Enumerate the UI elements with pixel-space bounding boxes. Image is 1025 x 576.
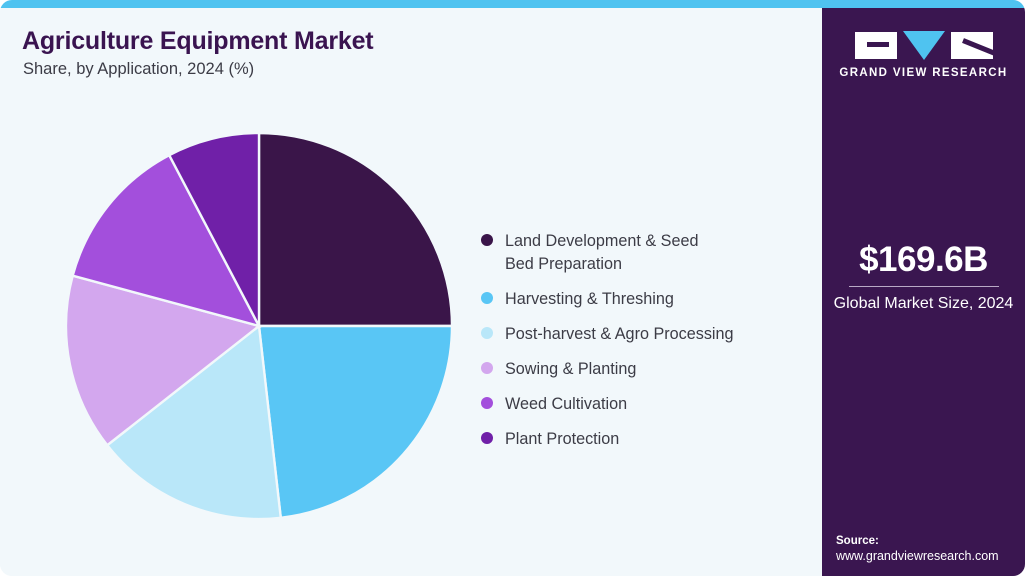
market-size-stat: $169.6B Global Market Size, 2024 — [822, 242, 1025, 315]
pie-chart — [64, 131, 454, 521]
infographic-card: Agriculture Equipment Market Share, by A… — [0, 0, 1025, 576]
market-size-value: $169.6B — [822, 242, 1025, 279]
logo-wordmark: GRAND VIEW RESEARCH — [822, 67, 1025, 79]
legend-item-label: Post-harvest & Agro Processing — [505, 323, 734, 346]
chart-legend: Land Development & SeedBed PreparationHa… — [481, 230, 811, 451]
legend-item[interactable]: Post-harvest & Agro Processing — [481, 323, 811, 346]
legend-color-swatch — [481, 432, 493, 444]
top-accent-bar — [0, 0, 1025, 8]
logo-v-triangle-icon — [903, 31, 945, 60]
source-block: Source: www.grandviewresearch.com — [836, 535, 1021, 563]
source-label: Source: — [836, 535, 1021, 547]
logo-g-icon — [855, 32, 897, 59]
legend-color-swatch — [481, 362, 493, 374]
legend-item[interactable]: Land Development & SeedBed Preparation — [481, 230, 811, 276]
legend-color-swatch — [481, 397, 493, 409]
legend-item[interactable]: Harvesting & Threshing — [481, 288, 811, 311]
legend-item[interactable]: Plant Protection — [481, 428, 811, 451]
pie-slice[interactable] — [259, 133, 452, 326]
legend-item-label: Weed Cultivation — [505, 393, 627, 416]
legend-item-label: Harvesting & Threshing — [505, 288, 674, 311]
legend-item-label: Sowing & Planting — [505, 358, 636, 381]
source-url[interactable]: www.grandviewresearch.com — [836, 549, 1021, 563]
brand-side-panel: GRAND VIEW RESEARCH $169.6B Global Marke… — [822, 8, 1025, 576]
legend-color-swatch — [481, 327, 493, 339]
logo-r-icon — [951, 32, 993, 59]
pie-slice[interactable] — [259, 326, 452, 518]
stat-divider — [849, 286, 999, 288]
logo-marks — [822, 32, 1025, 59]
legend-item[interactable]: Sowing & Planting — [481, 358, 811, 381]
legend-item-label: Plant Protection — [505, 428, 619, 451]
legend-color-swatch — [481, 292, 493, 304]
legend-item[interactable]: Weed Cultivation — [481, 393, 811, 416]
grand-view-research-logo: GRAND VIEW RESEARCH — [822, 32, 1025, 79]
legend-color-swatch — [481, 234, 493, 246]
legend-item-label: Land Development & SeedBed Preparation — [505, 230, 698, 276]
pie-chart-svg — [64, 131, 454, 521]
page-subtitle: Share, by Application, 2024 (%) — [23, 60, 254, 79]
chart-pane: Agriculture Equipment Market Share, by A… — [0, 8, 822, 576]
market-size-caption: Global Market Size, 2024 — [822, 294, 1025, 315]
page-title: Agriculture Equipment Market — [22, 27, 373, 56]
